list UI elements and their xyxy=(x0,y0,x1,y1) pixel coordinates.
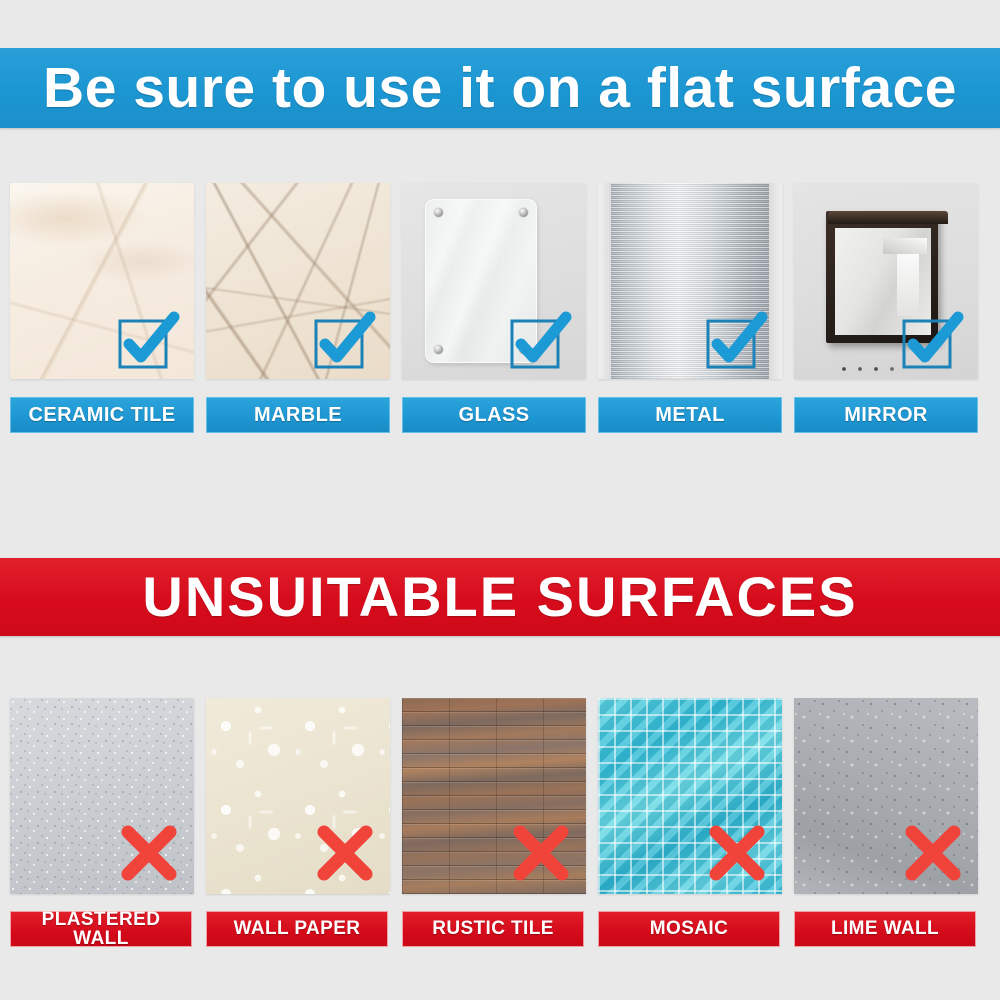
brushed-metal-texture xyxy=(598,183,782,379)
plastered-wall-texture xyxy=(10,698,194,894)
unsuitable-surfaces-row: PLASTERED WALL WALL PAPER RUSTIC TILE xyxy=(0,698,1000,947)
surface-card-ceramic-tile[interactable]: CERAMIC TILE xyxy=(10,183,194,433)
mirror-hooks-icon xyxy=(838,365,900,373)
cross-icon xyxy=(902,822,964,884)
glass-panel-texture xyxy=(402,183,586,379)
mirror-reflection xyxy=(897,254,919,316)
cross-icon xyxy=(118,822,180,884)
ceramic-tile-texture xyxy=(10,183,194,379)
cross-icon xyxy=(314,822,376,884)
marble-texture xyxy=(206,183,390,379)
surface-label-mirror: MIRROR xyxy=(794,397,978,433)
checkmark-icon xyxy=(306,309,378,371)
metal-edge-left xyxy=(598,183,611,379)
checkmark-icon xyxy=(110,309,182,371)
metal-edge-right xyxy=(769,183,782,379)
unsuitable-surfaces-banner: UNSUITABLE SURFACES xyxy=(0,558,1000,636)
suitable-surfaces-row: CERAMIC TILE MARBLE xyxy=(0,183,1000,433)
suitable-surfaces-banner: Be sure to use it on a flat surface xyxy=(0,48,1000,128)
surface-label-mosaic: MOSAIC xyxy=(598,911,780,947)
surface-label-rustic-tile: RUSTIC TILE xyxy=(402,911,584,947)
checkmark-icon xyxy=(502,309,574,371)
screw-icon xyxy=(519,208,528,217)
framed-mirror-texture xyxy=(794,183,978,379)
infographic-page: Be sure to use it on a flat surface CERA… xyxy=(0,0,1000,1000)
wallpaper-texture xyxy=(206,698,390,894)
surface-card-mirror[interactable]: MIRROR xyxy=(794,183,978,433)
surface-card-metal[interactable]: METAL xyxy=(598,183,782,433)
screw-icon xyxy=(434,208,443,217)
checkmark-icon xyxy=(894,309,966,371)
surface-label-metal: METAL xyxy=(598,397,782,433)
unsuitable-banner-title: UNSUITABLE SURFACES xyxy=(142,568,857,626)
surface-label-wall-paper: WALL PAPER xyxy=(206,911,388,947)
surface-card-marble[interactable]: MARBLE xyxy=(206,183,390,433)
surface-card-wall-paper[interactable]: WALL PAPER xyxy=(206,698,390,947)
cross-icon xyxy=(706,822,768,884)
surface-label-glass: GLASS xyxy=(402,397,586,433)
cross-icon xyxy=(510,822,572,884)
suitable-banner-title: Be sure to use it on a flat surface xyxy=(43,59,957,117)
surface-label-marble: MARBLE xyxy=(206,397,390,433)
surface-card-rustic-tile[interactable]: RUSTIC TILE xyxy=(402,698,586,947)
surface-card-plastered-wall[interactable]: PLASTERED WALL xyxy=(10,698,194,947)
mirror-top-shelf xyxy=(828,211,948,224)
surface-label-lime-wall: LIME WALL xyxy=(794,911,976,947)
rustic-stone-texture xyxy=(402,698,586,894)
surface-label-ceramic-tile: CERAMIC TILE xyxy=(10,397,194,433)
screw-icon xyxy=(434,345,443,354)
mirror-reflection xyxy=(883,238,927,254)
surface-label-plastered-wall: PLASTERED WALL xyxy=(10,911,192,947)
surface-card-glass[interactable]: GLASS xyxy=(402,183,586,433)
checkmark-icon xyxy=(698,309,770,371)
lime-wall-texture xyxy=(794,698,978,894)
surface-card-mosaic[interactable]: MOSAIC xyxy=(598,698,782,947)
mosaic-tile-texture xyxy=(598,698,782,894)
surface-card-lime-wall[interactable]: LIME WALL xyxy=(794,698,978,947)
